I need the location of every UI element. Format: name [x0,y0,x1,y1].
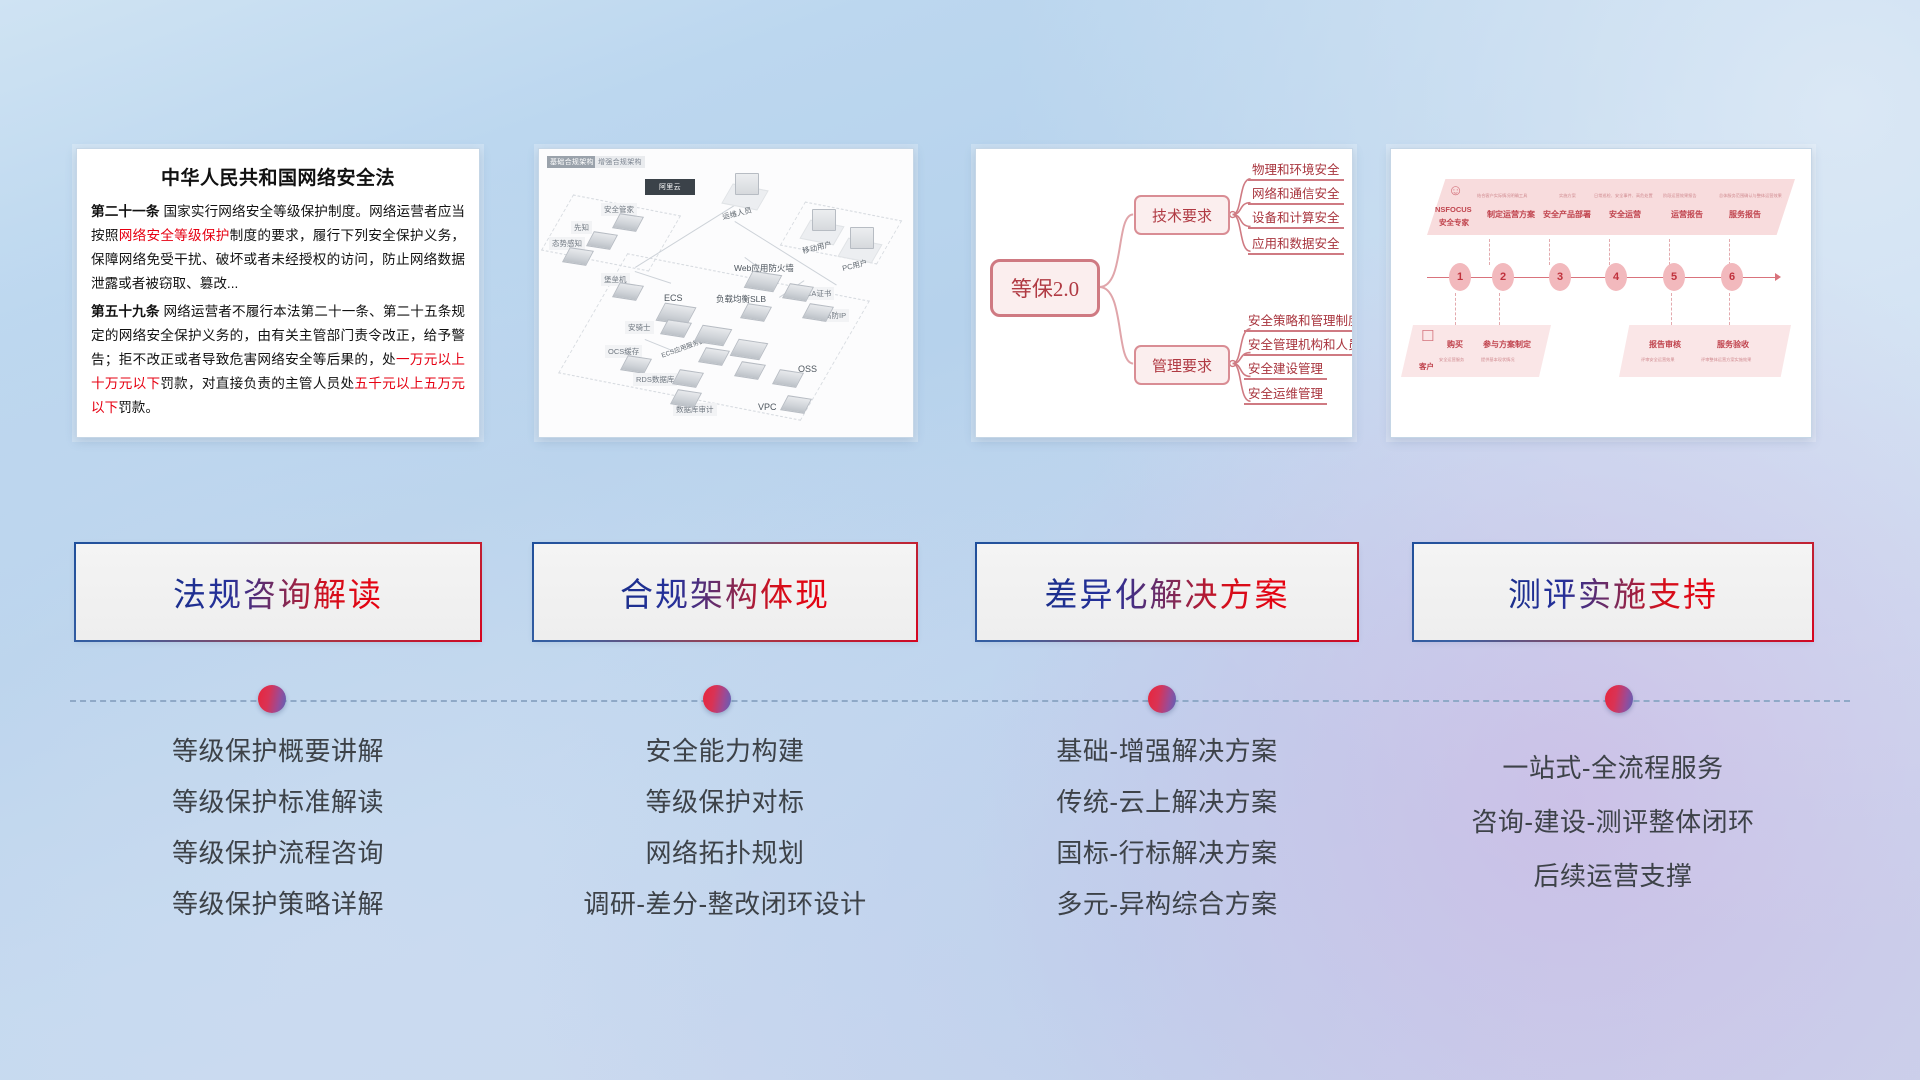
conn-bottom-3 [1671,293,1672,325]
nsfocus-top-band [1427,179,1795,235]
step-dot-6[interactable]: 6 [1721,263,1743,291]
law-article-2-number: 第五十九条 [91,304,160,319]
architecture-diagram: 基础合规架构 增强合规架构 阿里云 运维人员 [539,149,913,437]
top-title-3: 安全运营 [1609,209,1641,220]
section-title-inner-4: 测评实施支持 [1414,544,1812,640]
section-title-row: 法规咨询解读 合规架构体现 差异化解决方案 测评实施支持 [0,544,1920,648]
timeline-marker-3[interactable] [1148,685,1176,713]
arch-node-pc-icon [850,227,874,249]
top-title-5: 服务报告 [1729,209,1761,220]
nsfocus-role: 安全专家 [1439,217,1469,228]
arch-label-pc: PC用户 [838,255,872,275]
bottom-sub-3: 评审安全运营效果 [1641,357,1675,363]
law-title: 中华人民共和国网络安全法 [91,163,465,190]
section-title-inner-3: 差异化解决方案 [977,544,1357,640]
top-sub-1: 结合客户实际情况明确工具 [1477,193,1527,199]
section-list-1: 等级保护概要讲解 等级保护标准解读 等级保护流程咨询 等级保护策略详解 [76,738,480,942]
list-item: 后续运营支撑 [1414,863,1812,889]
law-article-1-seg-1-highlight: 网络安全等级保护 [119,228,230,243]
section-title-box-4[interactable]: 测评实施支持 [1414,544,1812,640]
card-cybersecurity-law[interactable]: 中华人民共和国网络安全法 第二十一条 国家实行网络安全等级保护制度。网络运营者应… [76,148,480,438]
mindmap-leaf-tech-3[interactable]: 设备和计算安全 [1248,207,1344,229]
nsfocus-bottom-band-right [1619,325,1791,377]
top-sub-3: 日常巡检、安全事件、高危处置 [1594,193,1653,199]
conn-bottom-2 [1499,293,1500,325]
section-list-3: 基础-增强解决方案 传统-云上解决方案 国标-行标解决方案 多元-异构综合方案 [977,738,1357,942]
arch-node-ops-icon [735,173,759,195]
timeline-arrow-icon [1775,273,1781,281]
list-item: 等级保护标准解读 [76,789,480,815]
bottom-title-2: 参与方案制定 [1483,339,1531,350]
arch-label-xianzhi: 先知 [571,221,592,234]
section-list-2: 安全能力构建 等级保护对标 网络拓扑规划 调研-差分-整改闭环设计 [534,738,916,942]
section-title-inner-1: 法规咨询解读 [76,544,480,640]
poster-root: 中华人民共和国网络安全法 第二十一条 国家实行网络安全等级保护制度。网络运营者应… [0,0,1920,1080]
mindmap-branch-technical[interactable]: 技术要求 [1134,195,1230,235]
top-sub-4: 阶段运营效果报告 [1663,193,1697,199]
mindmap-leaf-mgmt-3[interactable]: 安全建设管理 [1244,358,1327,380]
bottom-title-4: 服务验收 [1717,339,1749,350]
top-title-1: 制定运营方案 [1487,209,1535,220]
law-article-2-seg-2: 罚款，对直接负责的主管人员处 [160,376,354,391]
timeline-marker-4[interactable] [1605,685,1633,713]
bottom-sub-2: 提供基本现状情况 [1481,357,1515,363]
law-article-1-number: 第二十一条 [91,204,160,219]
top-sub-5: 总体服务范围确认与整体运营效果 [1719,193,1782,199]
mindmap-leaf-mgmt-1[interactable]: 安全策略和管理制度 [1244,310,1353,332]
list-item: 传统-云上解决方案 [977,789,1357,815]
list-item: 基础-增强解决方案 [977,738,1357,764]
timeline-marker-2[interactable] [703,685,731,713]
top-sub-2: 实施方案 [1559,193,1576,199]
list-item: 等级保护对标 [534,789,916,815]
step-dot-2[interactable]: 2 [1492,263,1514,291]
list-item: 一站式-全流程服务 [1414,755,1812,781]
section-list-4: 一站式-全流程服务 咨询-建设-测评整体闭环 后续运营支撑 [1414,738,1812,917]
conn-top-2 [1549,239,1550,265]
law-article-1: 第二十一条 国家实行网络安全等级保护制度。网络运营者应当按照网络安全等级保护制度… [91,200,465,296]
arch-tab-enhanced[interactable]: 增强合规架构 [595,156,645,168]
card-row: 中华人民共和国网络安全法 第二十一条 国家实行网络安全等级保护制度。网络运营者应… [0,148,1920,444]
section-title-text-2: 合规架构体现 [620,568,830,616]
nsfocus-brand: NSFOCUS [1435,205,1472,214]
conn-top-5 [1729,239,1730,265]
customer-avatar-icon: ☐ [1421,329,1434,344]
timeline-strip [0,696,1920,706]
step-dot-1[interactable]: 1 [1449,263,1471,291]
mindmap-leaf-tech-2[interactable]: 网络和通信安全 [1248,183,1344,205]
list-item: 调研-差分-整改闭环设计 [534,891,916,917]
nsfocus-timeline: ☺ NSFOCUS 安全专家 结合客户实际情况明确工具 制定运营方案 实施方案 … [1391,149,1811,437]
arch-tab-basic[interactable]: 基础合规架构 [547,156,597,168]
conn-top-4 [1669,239,1670,265]
list-item: 等级保护策略详解 [76,891,480,917]
section-title-text-3: 差异化解决方案 [1045,568,1290,616]
list-item: 网络拓扑规划 [534,840,916,866]
conn-top-3 [1609,239,1610,265]
list-item: 咨询-建设-测评整体闭环 [1414,809,1812,835]
bottom-sub-1: 安全运营服务 [1439,357,1464,363]
mindmap-leaf-mgmt-4[interactable]: 安全运维管理 [1244,383,1327,405]
section-lists-row: 等级保护概要讲解 等级保护标准解读 等级保护流程咨询 等级保护策略详解 安全能力… [0,738,1920,968]
card-mindmap-dengbao[interactable]: 等保2.0 技术要求 管理要求 物理和环境安全 网络和通信安全 设备和计算安全 … [975,148,1353,438]
bottom-sub-4: 评审整体运营方案实施效果 [1701,357,1751,363]
mindmap-leaf-mgmt-2[interactable]: 安全管理机构和人员 [1244,334,1353,356]
timeline-dashed-line [70,700,1850,702]
arch-label-vpc: VPC [755,401,780,413]
arch-label-slb: 负载均衡SLB [713,292,769,306]
card-compliance-architecture[interactable]: 基础合规架构 增强合规架构 阿里云 运维人员 [538,148,914,438]
arch-cloud-tag: 阿里云 [645,179,695,195]
conn-bottom-1 [1455,293,1456,325]
mindmap-leaf-tech-4[interactable]: 应用和数据安全 [1248,233,1344,255]
mindmap-root[interactable]: 等保2.0 [990,259,1100,317]
arch-label-ops: 运维人员 [718,203,756,224]
step-dot-5[interactable]: 5 [1663,263,1685,291]
list-item: 安全能力构建 [534,738,916,764]
arch-label-anqishi: 安骑士 [625,321,654,334]
section-title-text-4: 测评实施支持 [1508,568,1718,616]
timeline-marker-1[interactable] [258,685,286,713]
mindmap-branch-management[interactable]: 管理要求 [1134,345,1230,385]
bottom-title-1: 购买 [1447,339,1463,350]
conn-top-1 [1489,239,1490,265]
mindmap-leaf-tech-1[interactable]: 物理和环境安全 [1248,159,1344,181]
section-title-inner-2: 合规架构体现 [534,544,916,640]
mindmap: 等保2.0 技术要求 管理要求 物理和环境安全 网络和通信安全 设备和计算安全 … [976,149,1352,437]
list-item: 多元-异构综合方案 [977,891,1357,917]
law-body: 中华人民共和国网络安全法 第二十一条 国家实行网络安全等级保护制度。网络运营者应… [77,149,479,428]
bottom-title-3: 报告审核 [1649,339,1681,350]
section-title-text-1: 法规咨询解读 [173,568,383,616]
conn-bottom-4 [1729,293,1730,325]
law-article-2: 第五十九条 网络运营者不履行本法第二十一条、第二十五条规定的网络安全保护义务的，… [91,300,465,420]
step-dot-3[interactable]: 3 [1549,263,1571,291]
law-article-2-seg-4: 罚款。 [118,400,159,415]
list-item: 等级保护流程咨询 [76,840,480,866]
arch-node-mobile-icon [812,209,836,231]
card-nsfocus-service-timeline[interactable]: ☺ NSFOCUS 安全专家 结合客户实际情况明确工具 制定运营方案 实施方案 … [1390,148,1812,438]
expert-avatar-icon: ☺ [1448,183,1463,198]
top-title-4: 运营报告 [1671,209,1703,220]
step-dot-4[interactable]: 4 [1605,263,1627,291]
top-title-2: 安全产品部署 [1543,209,1591,220]
section-title-box-3[interactable]: 差异化解决方案 [977,544,1357,640]
customer-label: 客户 [1419,361,1434,372]
section-title-box-2[interactable]: 合规架构体现 [534,544,916,640]
section-title-box-1[interactable]: 法规咨询解读 [76,544,480,640]
list-item: 国标-行标解决方案 [977,840,1357,866]
list-item: 等级保护概要讲解 [76,738,480,764]
